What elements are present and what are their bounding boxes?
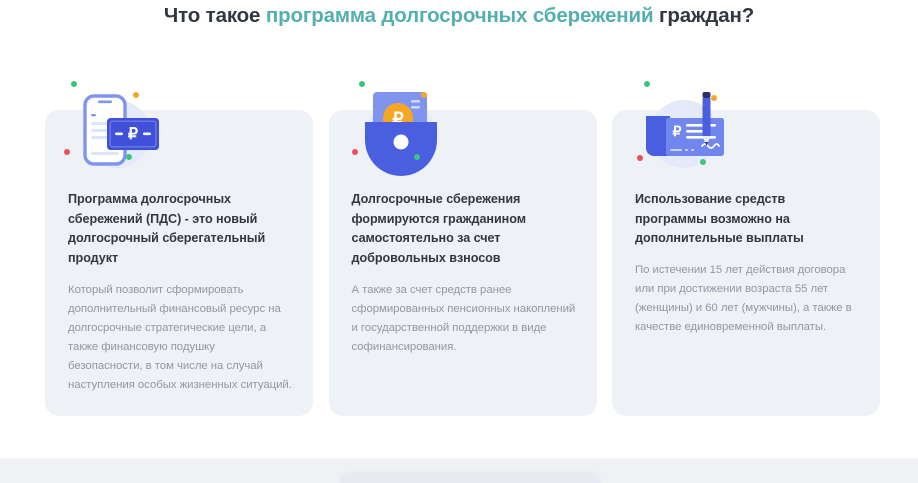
page-title-part-2: граждан? bbox=[653, 4, 754, 27]
svg-text:₽: ₽ bbox=[128, 126, 138, 143]
page-title-accent: программа долгосрочных сбережений bbox=[266, 4, 654, 27]
feature-card-title: Использование средств программы возможно… bbox=[635, 190, 859, 249]
cheque-pen-icon: ₽ bbox=[628, 78, 748, 182]
feature-card-body: А также за счет средств ранее сформирова… bbox=[352, 281, 576, 357]
feature-cards-row: ₽ Программа долгосрочных сбережений (ПДС… bbox=[45, 110, 880, 416]
feature-card-title: Программа долгосрочных сбережений (ПДС) … bbox=[68, 190, 292, 268]
bottom-section-band bbox=[0, 458, 918, 483]
feature-card-body: Который позволит сформировать дополнител… bbox=[68, 281, 292, 395]
svg-text:₽: ₽ bbox=[673, 123, 682, 139]
feature-card-3[interactable]: ₽ Использование средств программы возмож… bbox=[612, 110, 880, 416]
wallet-ruble-coin-icon: ₽ bbox=[345, 78, 465, 182]
page-title-part-1: Что такое bbox=[164, 4, 266, 27]
bottom-band-shape bbox=[340, 472, 600, 483]
feature-card-title: Долгосрочные сбережения формируются граж… bbox=[352, 190, 576, 268]
phone-banknote-icon: ₽ bbox=[61, 78, 181, 182]
page-title: Что такое программа долгосрочных сбереже… bbox=[0, 0, 918, 28]
feature-card-2[interactable]: ₽ Долгосрочные сбережения формируются гр… bbox=[329, 110, 597, 416]
feature-card-1[interactable]: ₽ Программа долгосрочных сбережений (ПДС… bbox=[45, 110, 313, 416]
feature-card-body: По истечении 15 лет действия договора ил… bbox=[635, 261, 859, 337]
